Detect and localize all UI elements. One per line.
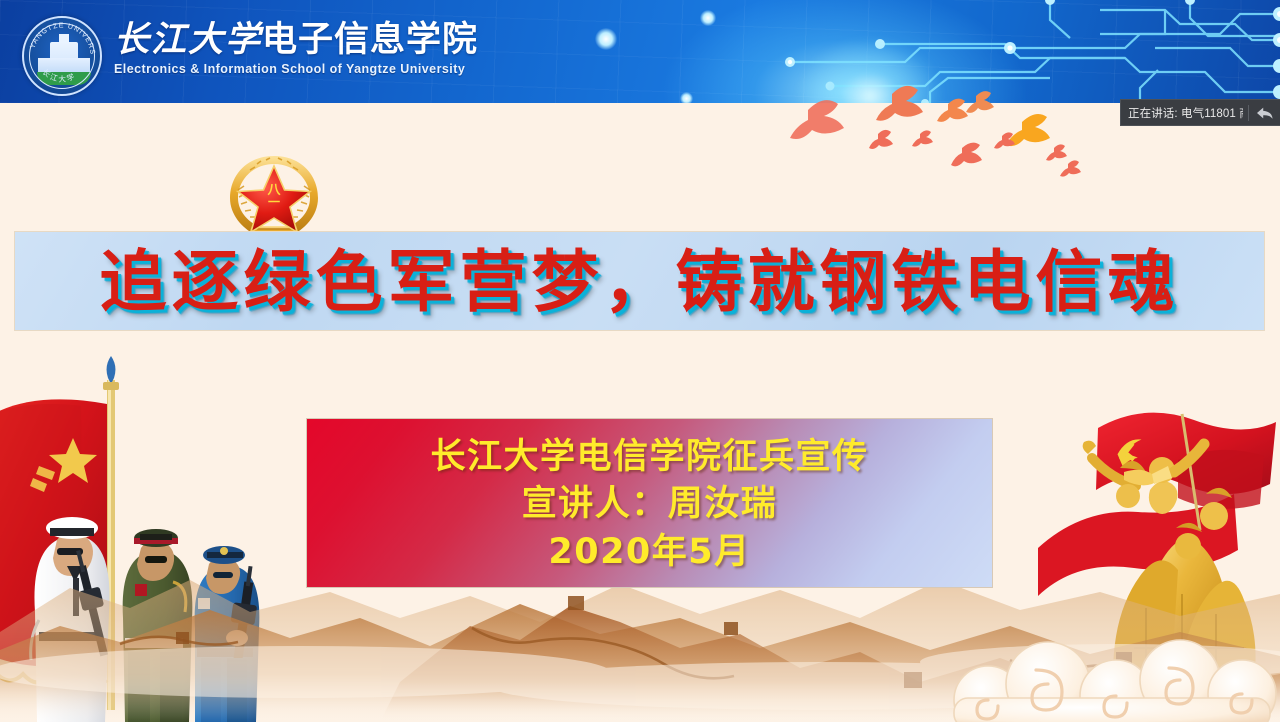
glow-spark-icon <box>595 28 617 50</box>
svg-text:长江大学: 长江大学 <box>41 67 78 84</box>
slide-title: 追逐绿色军营梦，铸就钢铁电信魂 <box>100 248 1180 315</box>
svg-text:一: 一 <box>268 195 280 209</box>
subtitle-box: 长江大学电信学院征兵宣传 宣讲人：周汝瑞 2020年5月 <box>306 418 993 588</box>
school-name-en: Electronics & Information School of Yang… <box>114 62 478 76</box>
svg-text:YANGTZE UNIVERSITY: YANGTZE UNIVERSITY <box>24 18 96 56</box>
glow-spark-icon <box>700 10 716 26</box>
school-name-cn: 长江大学电子信息学院 <box>114 22 478 59</box>
presentation-slide: YANGTZE UNIVERSITY 长江大学 长江大学电子信息学院 Elect… <box>0 0 1280 722</box>
overlay-divider <box>1248 105 1249 121</box>
school-logo-group: YANGTZE UNIVERSITY 长江大学 长江大学电子信息学院 Elect… <box>22 16 478 96</box>
now-speaking-overlay[interactable]: 正在讲话: 电气11801 商祎; <box>1120 99 1280 126</box>
now-speaking-label: 正在讲话: 电气11801 商祎; <box>1128 105 1243 121</box>
slide-title-box: 追逐绿色军营梦，铸就钢铁电信魂 <box>14 231 1265 331</box>
yangtze-university-seal-icon: YANGTZE UNIVERSITY 长江大学 <box>22 16 102 96</box>
subtitle-line-2: 宣讲人：周汝瑞 <box>522 481 778 528</box>
auspicious-cloud-motif-icon <box>940 592 1280 722</box>
subtitle-line-1: 长江大学电信学院征兵宣传 <box>430 434 868 481</box>
reply-arrow-icon[interactable] <box>1254 104 1276 122</box>
flying-doves-flock-icon <box>770 82 1100 182</box>
pla-august-first-emblem-icon: 八 一 <box>222 150 326 242</box>
honor-guard-soldiers-photo <box>0 352 295 722</box>
glow-spark-icon <box>680 92 693 103</box>
subtitle-line-3: 2020年5月 <box>548 529 750 576</box>
